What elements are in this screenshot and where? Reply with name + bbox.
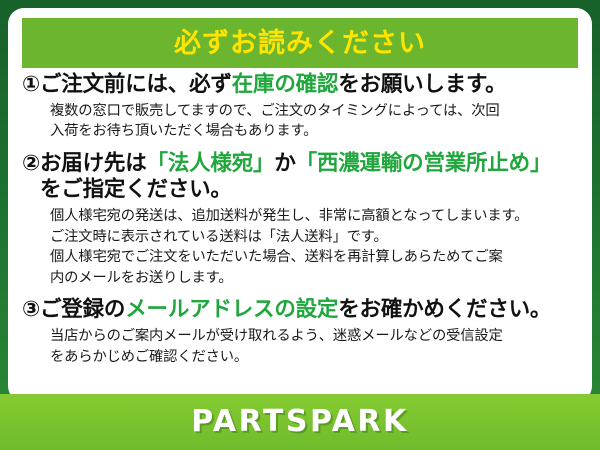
brand-name: PARTSPARK [191,407,409,437]
notice-item-3: ③ご登録のメールアドレスの設定をお確かめください。 当店からのご案内メールが受け… [18,297,582,367]
notice-heading-3: ③ご登録のメールアドレスの設定をお確かめください。 [18,297,582,324]
notice-banner: 必ずお読みください ①ご注文前には、必ず在庫の確認をお願いします。 複数の窓口で… [0,0,600,450]
notice-list: ①ご注文前には、必ず在庫の確認をお願いします。 複数の窓口で販売してますので、ご… [8,72,592,376]
brand-footer: PARTSPARK [0,394,600,450]
notice-heading-3-part-1: ③ご登録の [22,297,125,322]
content-panel: 必ずお読みください ①ご注文前には、必ず在庫の確認をお願いします。 複数の窓口で… [8,8,592,402]
notice-body-2-line-3: 個人様宅宛でご注文をいただいた場合、送料を再計算しあらためてご案 [50,247,582,268]
notice-body-3-line-2: をあらかじめご確認ください。 [50,347,582,368]
notice-heading-1-part-3: をお願いします。 [338,72,506,97]
notice-heading-2-part-1: ②お届け先は [22,151,147,176]
notice-heading-2-accent-2: 「西濃運輸の営業所止め」 [296,151,552,176]
notice-item-2: ②お届け先は「法人様宛」か「西濃運輸の営業所止め」 をご指定ください。 個人様宅… [18,151,582,289]
notice-heading-1-part-1: ①ご注文前には、必ず [22,72,232,97]
notice-body-1-line-2: 入荷をお待ち頂いただく場合もあります。 [50,121,582,142]
notice-item-1: ①ご注文前には、必ず在庫の確認をお願いします。 複数の窓口で販売してますので、ご… [18,72,582,142]
notice-heading-2-part-3: か [274,151,295,176]
notice-heading-3-accent: メールアドレスの設定 [125,297,338,322]
banner-title: 必ずお読みください [174,30,426,57]
notice-heading-1: ①ご注文前には、必ず在庫の確認をお願いします。 [18,72,582,99]
notice-heading-3-part-3: をお確かめください。 [338,297,551,322]
notice-heading-2-accent-1: 「法人様宛」 [147,151,275,176]
notice-body-1-line-1: 複数の窓口で販売してますので、ご注文のタイミングによっては、次回 [50,101,582,122]
notice-body-1: 複数の窓口で販売してますので、ご注文のタイミングによっては、次回 入荷をお待ち頂… [18,101,582,142]
notice-body-2-line-1: 個人様宅宛の発送は、追加送料が発生し、非常に高額となってしまいます。 [50,206,582,227]
notice-heading-1-accent: 在庫の確認 [232,72,339,97]
notice-body-3: 当店からのご案内メールが受け取れるよう、迷惑メールなどの受信設定 をあらかじめご… [18,326,582,367]
notice-body-2: 個人様宅宛の発送は、追加送料が発生し、非常に高額となってしまいます。 ご注文時に… [18,206,582,288]
notice-body-3-line-1: 当店からのご案内メールが受け取れるよう、迷惑メールなどの受信設定 [50,326,582,347]
notice-body-2-line-2: ご注文時に表示されている送料は「法人送料」です。 [50,227,582,248]
notice-body-2-line-4: 内のメールをお送りします。 [50,268,582,289]
notice-heading-2: ②お届け先は「法人様宛」か「西濃運輸の営業所止め」 をご指定ください。 [18,151,582,204]
title-bar: 必ずお読みください [22,18,578,68]
notice-heading-2-line-2: をご指定ください。 [22,177,582,204]
